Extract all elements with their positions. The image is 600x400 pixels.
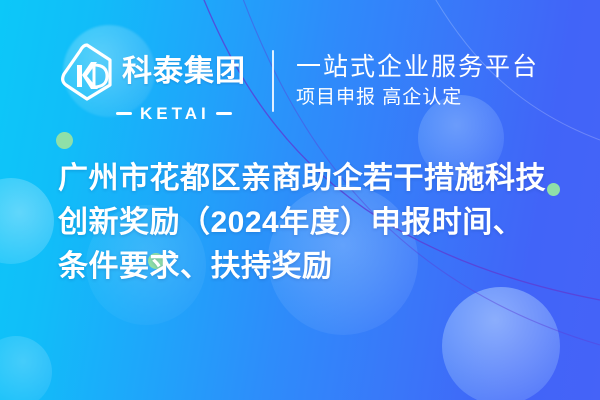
tagline-sub-text: 项目申报 高企认定	[296, 87, 539, 109]
decorative-circle-left-lower	[0, 336, 52, 400]
logo-subtitle-row: KETAI	[116, 105, 232, 122]
logo-primary-row: 科泰集团	[58, 41, 246, 103]
tagline-main-text: 一站式企业服务平台	[296, 53, 539, 82]
decorative-circle-bottom-right	[442, 287, 560, 400]
ketai-diamond-kd-monogram-icon	[58, 41, 116, 103]
logo-wordmark: 科泰集团	[122, 57, 246, 87]
logo-latin-name: KETAI	[140, 105, 210, 122]
banner-title: 广州市花都区亲商助企若干措施科技创新奖励（2024年度）申报时间、条件要求、扶持…	[58, 157, 550, 289]
brand-tagline: 一站式企业服务平台 项目申报 高企认定	[296, 53, 539, 109]
banner-header: 科泰集团 KETAI 一站式企业服务平台 项目申报 高企认定	[58, 42, 539, 120]
green-accent-dot-left	[56, 132, 73, 149]
promo-banner: 科泰集团 KETAI 一站式企业服务平台 项目申报 高企认定 广州市花都区亲商助…	[0, 0, 600, 400]
logo-dash-left-icon	[116, 112, 132, 115]
brand-logo[interactable]: 科泰集团 KETAI	[58, 41, 246, 122]
logo-dash-right-icon	[216, 112, 232, 115]
decorative-circle-left-middle	[0, 178, 54, 264]
header-divider	[272, 50, 274, 112]
